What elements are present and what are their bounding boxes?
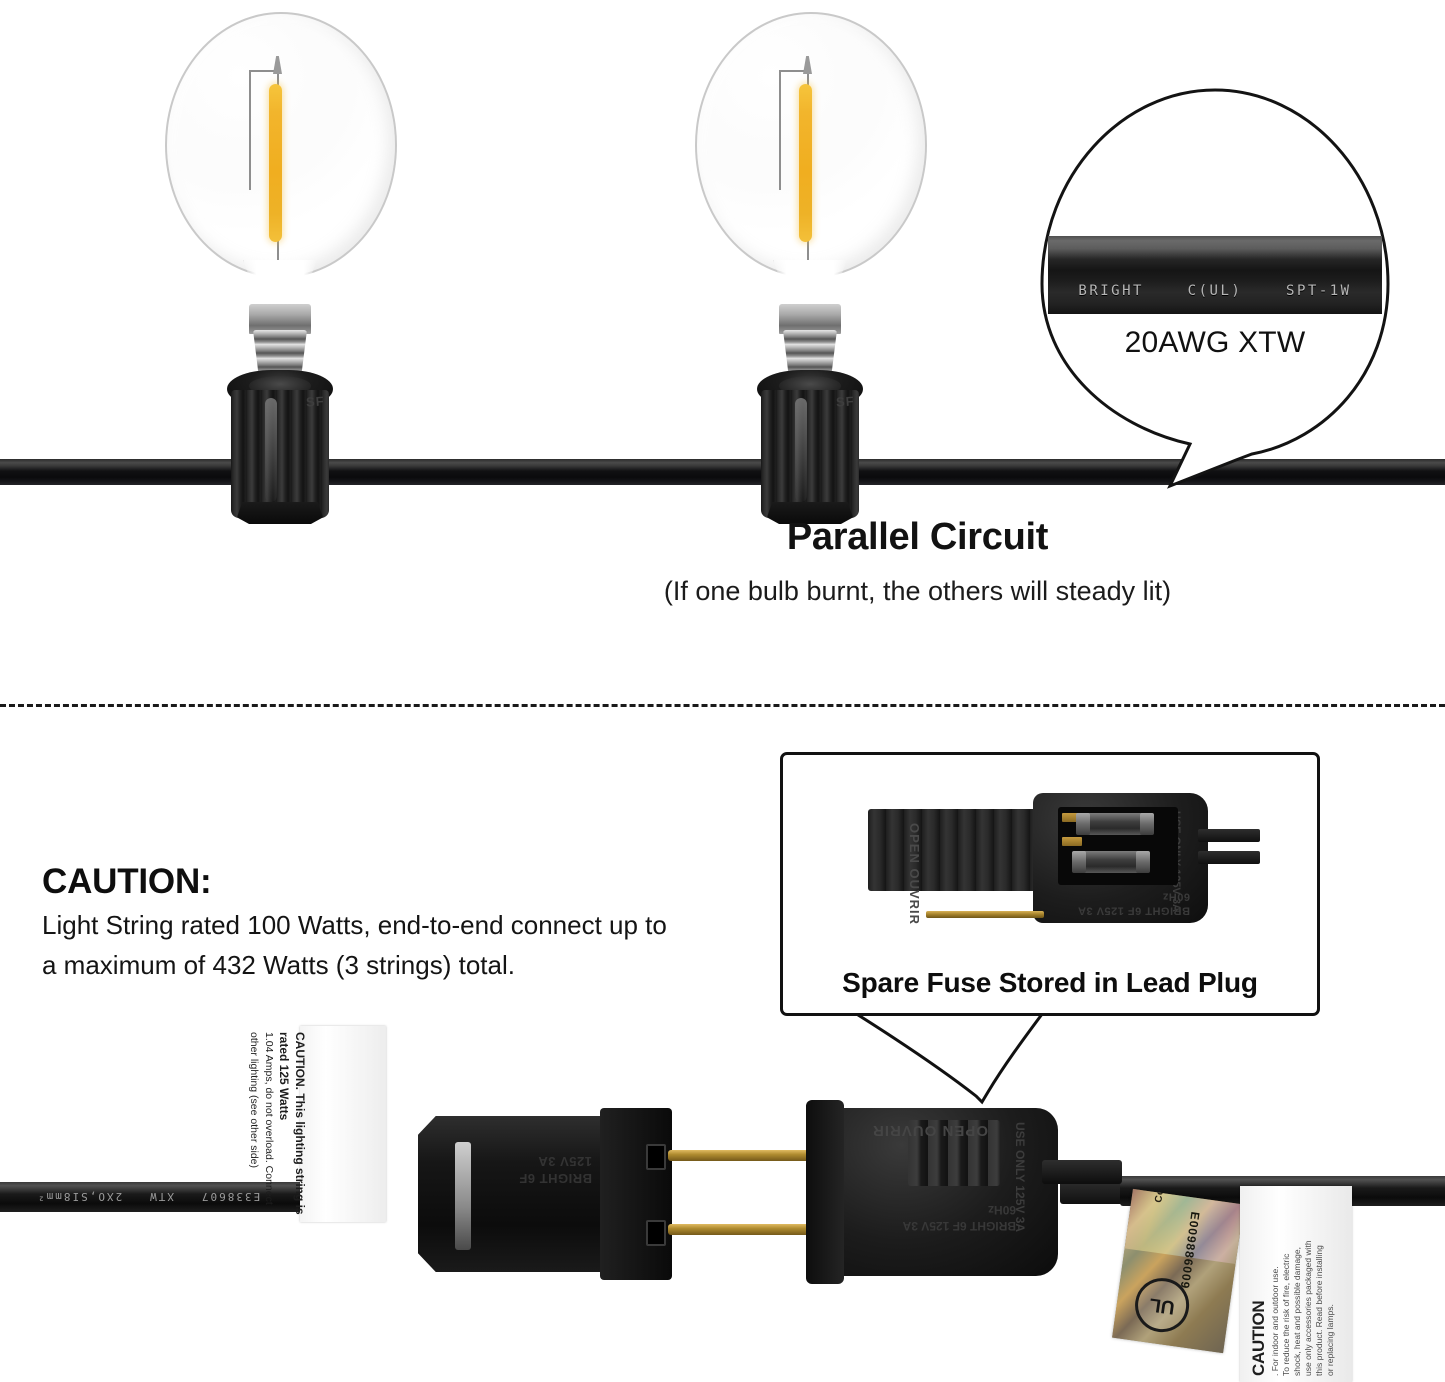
female-connector-slot-bottom (646, 1220, 666, 1246)
female-socket-connector: BRIGHT 6F 125V 3A (400, 1108, 690, 1278)
plug-prong (926, 911, 1044, 918)
parallel-circuit-heading: Parallel Circuit (195, 516, 1445, 559)
caution-tag-right: CAUTION . For indoor and outdoor use. To… (1240, 1186, 1352, 1382)
parallel-circuit-subheading: (If one bulb burnt, the others will stea… (195, 576, 1445, 607)
product-infographic: SF SF (0, 0, 1445, 1382)
cable-print-text: BRIGHT C(UL) SPT-1W (1048, 283, 1382, 299)
fuse-contact (1062, 837, 1082, 846)
led-filament (799, 84, 812, 242)
plug-bottom-emboss: BRIGHT 6F 125V 3A 60Hz (1050, 889, 1190, 917)
fuse-cap (1072, 851, 1086, 873)
socket-highlight (795, 398, 807, 502)
bulb-neck (243, 260, 317, 308)
tag-right-line4: use only accessories packaged with (1303, 1186, 1314, 1376)
fuse-compartment-window (1058, 807, 1178, 885)
plug-cord-lower (1198, 851, 1260, 864)
fuse-cap (1140, 813, 1154, 835)
tag-right-line3: shock, heat and possible damage, (1292, 1186, 1303, 1376)
tag-right-line1: . For indoor and outdoor use. (1270, 1186, 1281, 1376)
filament-support-wire-vertical (779, 70, 781, 190)
spare-fuse-inset-box: OPEN OUVRIR USE ONLY 125V 3A BRIGHT 6F 1… (780, 752, 1320, 1016)
lead-plug-emboss-bottom: BRIGHT 6F 125V 3A 60Hz (876, 1202, 1016, 1233)
tag-right-title: CAUTION (1248, 1301, 1270, 1376)
caution-heading: CAUTION: (42, 862, 212, 902)
lead-plug-cord (1042, 1160, 1122, 1184)
tag-right-line5: this product. Read before installing (1314, 1186, 1325, 1376)
section-divider (0, 704, 1445, 707)
caution-tag-right-text: CAUTION . For indoor and outdoor use. To… (1248, 1186, 1336, 1376)
tag-left-line2: 1.04 Amps, do not overload. Connect (261, 1032, 275, 1216)
inset-caption: Spare Fuse Stored in Lead Plug (783, 967, 1317, 999)
caution-line-2: a maximum of 432 Watts (3 strings) total… (42, 946, 722, 986)
lead-plug-open-text: OPEN OUVRIR (872, 1120, 988, 1139)
opened-lead-plug: OPEN OUVRIR USE ONLY 125V 3A BRIGHT 6F 1… (868, 793, 1258, 943)
lead-plug-face (806, 1100, 844, 1284)
tag-right-line2: To reduce the risk of fire, electric (1281, 1186, 1292, 1376)
fuse-cap (1076, 813, 1090, 835)
caution-tag-left: CAUTION. This lighting string is rated 1… (300, 1026, 386, 1222)
male-lead-plug: OPEN OUVRIR BRIGHT 6F 125V 3A 60Hz USE O… (780, 1098, 1110, 1288)
magnified-cable: BRIGHT C(UL) SPT-1W (1048, 236, 1382, 314)
lead-plug-emboss-side: USE ONLY 125V 3A (1012, 1122, 1028, 1232)
caution-line-1: Light String rated 100 Watts, end-to-end… (42, 906, 722, 946)
wire-zoom-callout: BRIGHT C(UL) SPT-1W 20AWG XTW (1040, 88, 1390, 488)
bulb-socket-2: SF (757, 370, 863, 520)
socket-body (761, 390, 859, 518)
socket-emboss-text: SF (306, 393, 326, 409)
female-connector-slot-top (646, 1144, 666, 1170)
fuse-cap (1136, 851, 1150, 873)
caution-body: Light String rated 100 Watts, end-to-end… (42, 906, 722, 985)
female-connector-face (600, 1108, 672, 1280)
ul-certification-label: Certified UL E009886009 (1112, 1189, 1244, 1353)
socket-body (231, 390, 329, 518)
plug-cord-upper (1198, 829, 1260, 842)
callout-label-awg: 20AWG XTW (1040, 326, 1390, 360)
cord-left-print: E338607 XTW 2XO,SI8mm² (36, 1190, 260, 1203)
bulb-metal-base (779, 304, 841, 334)
socket-emboss-text: SF (836, 393, 856, 409)
bulb-metal-base (249, 304, 311, 334)
fuse-door-open-text: OPEN OUVRIR (906, 823, 922, 925)
bulb-neck (773, 260, 847, 308)
female-connector-highlight (455, 1142, 471, 1250)
bulb-socket-1: SF (227, 370, 333, 520)
tag-left-title: CAUTION (293, 1032, 307, 1087)
led-filament (269, 84, 282, 242)
female-connector-emboss: BRIGHT 6F 125V 3A (496, 1152, 592, 1186)
fuse-door-slid-open: OPEN OUVRIR (868, 809, 1048, 891)
tag-right-line6: or replacing lamps. (1325, 1186, 1336, 1376)
socket-highlight (265, 398, 277, 502)
caution-tag-left-text: CAUTION. This lighting string is rated 1… (247, 1032, 308, 1216)
filament-support-wire-vertical (249, 70, 251, 190)
tag-left-line3: other lighting (see other side) (247, 1032, 261, 1216)
